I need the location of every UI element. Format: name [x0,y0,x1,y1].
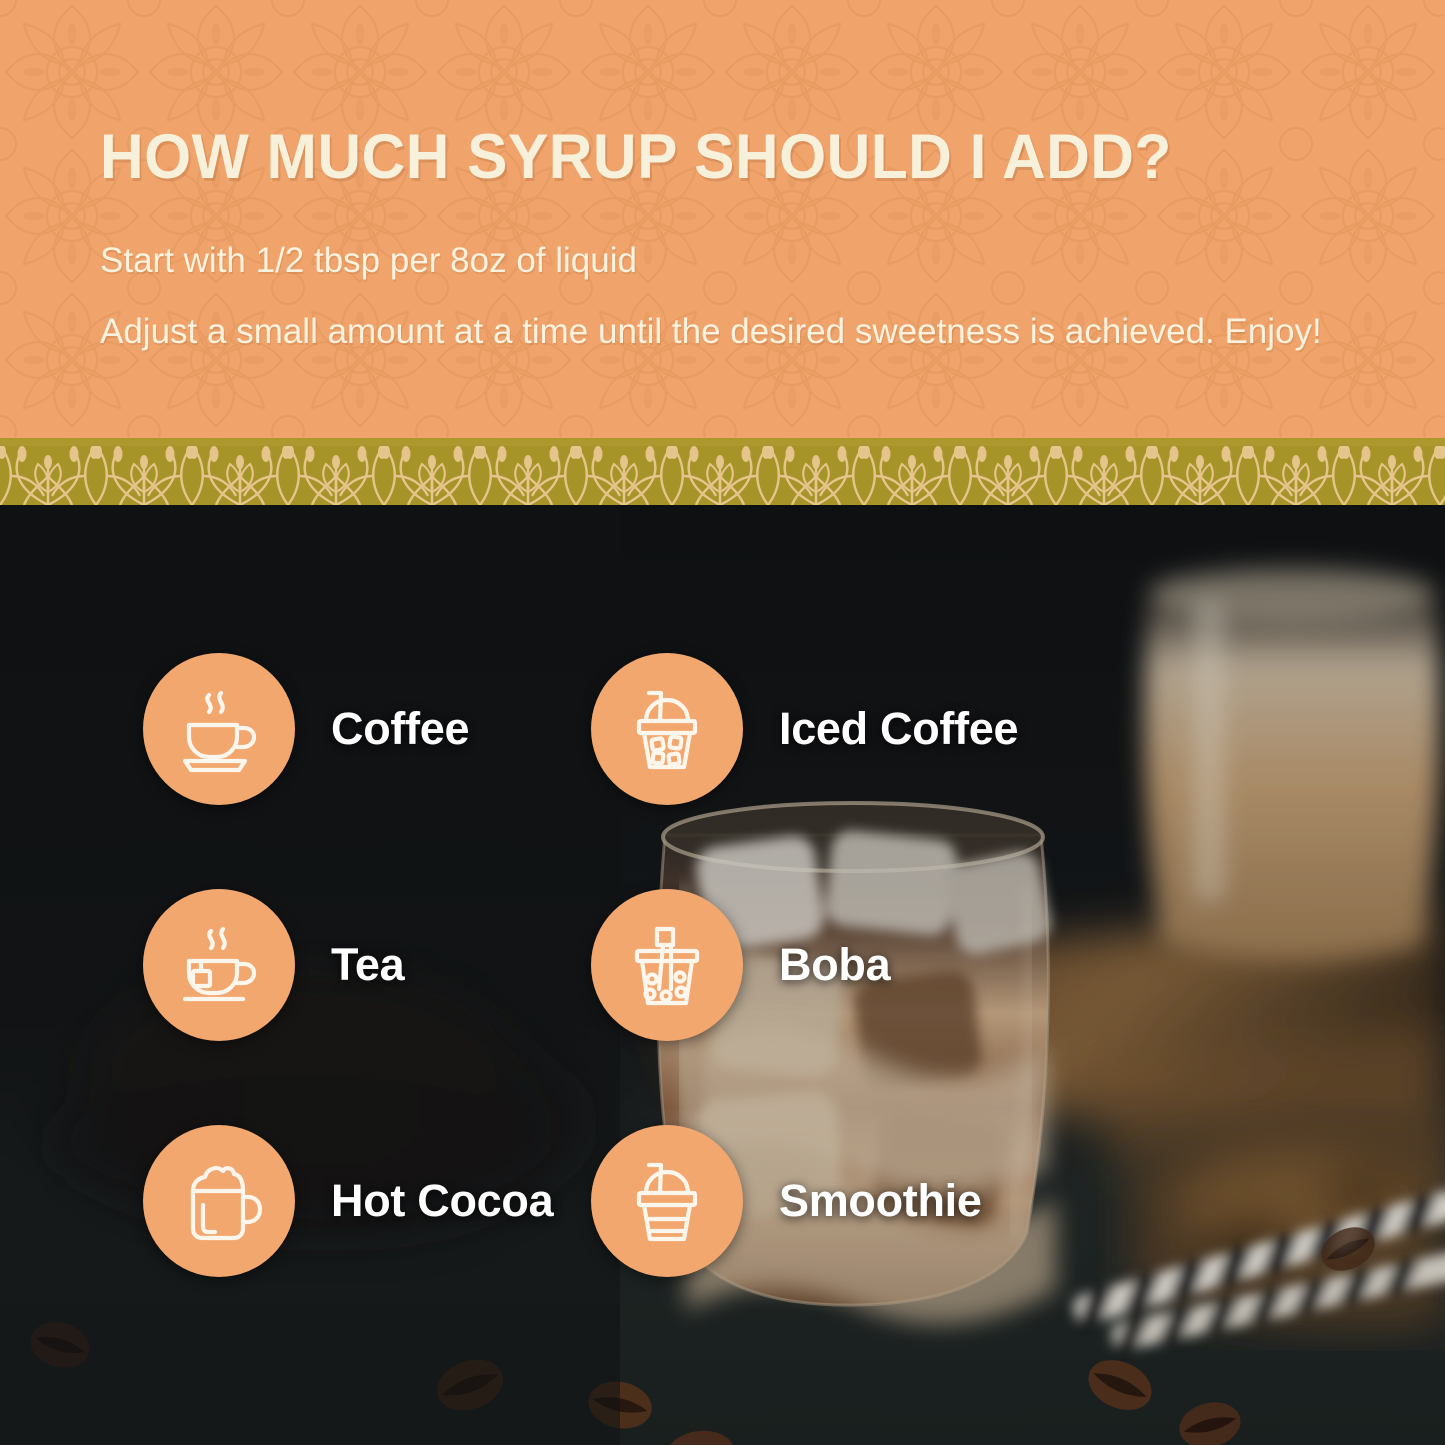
hot-cocoa-icon [171,1153,267,1249]
smoothie-icon-badge [591,1125,743,1277]
beverage-item-coffee[interactable]: Coffee [143,653,469,805]
boba-cup-icon [619,917,715,1013]
beverage-label: Iced Coffee [779,703,1018,755]
beverage-list: Coffee Iced Coffee [0,505,1445,1445]
beverage-label: Smoothie [779,1175,982,1227]
coffee-cup-icon [171,681,267,777]
beverage-item-hot-cocoa[interactable]: Hot Cocoa [143,1125,553,1277]
smoothie-cup-icon [619,1153,715,1249]
divider-rule [0,438,1445,446]
beverage-label: Coffee [331,703,469,755]
ornamental-divider-band [0,446,1445,505]
instruction-line-2: Adjust a small amount at a time until th… [100,314,1445,349]
beverage-label: Boba [779,939,890,991]
tea-cup-icon [171,917,267,1013]
page-title: HOW MUCH SYRUP SHOULD I ADD? [100,126,1391,189]
hot-cocoa-icon-badge [143,1125,295,1277]
iced-coffee-icon [619,681,715,777]
instruction-line-1: Start with 1/2 tbsp per 8oz of liquid [100,243,1445,278]
header-banner: HOW MUCH SYRUP SHOULD I ADD? Start with … [0,0,1445,438]
leaf-ornament-pattern [0,446,1445,505]
beverage-item-boba[interactable]: Boba [591,889,890,1041]
beverage-item-smoothie[interactable]: Smoothie [591,1125,982,1277]
boba-icon-badge [591,889,743,1041]
beverage-item-iced-coffee[interactable]: Iced Coffee [591,653,1018,805]
beverage-label: Hot Cocoa [331,1175,553,1227]
coffee-icon-badge [143,653,295,805]
iced-coffee-icon-badge [591,653,743,805]
infographic-page: HOW MUCH SYRUP SHOULD I ADD? Start with … [0,0,1445,1445]
beverage-label: Tea [331,939,404,991]
beverage-item-tea[interactable]: Tea [143,889,404,1041]
tea-icon-badge [143,889,295,1041]
